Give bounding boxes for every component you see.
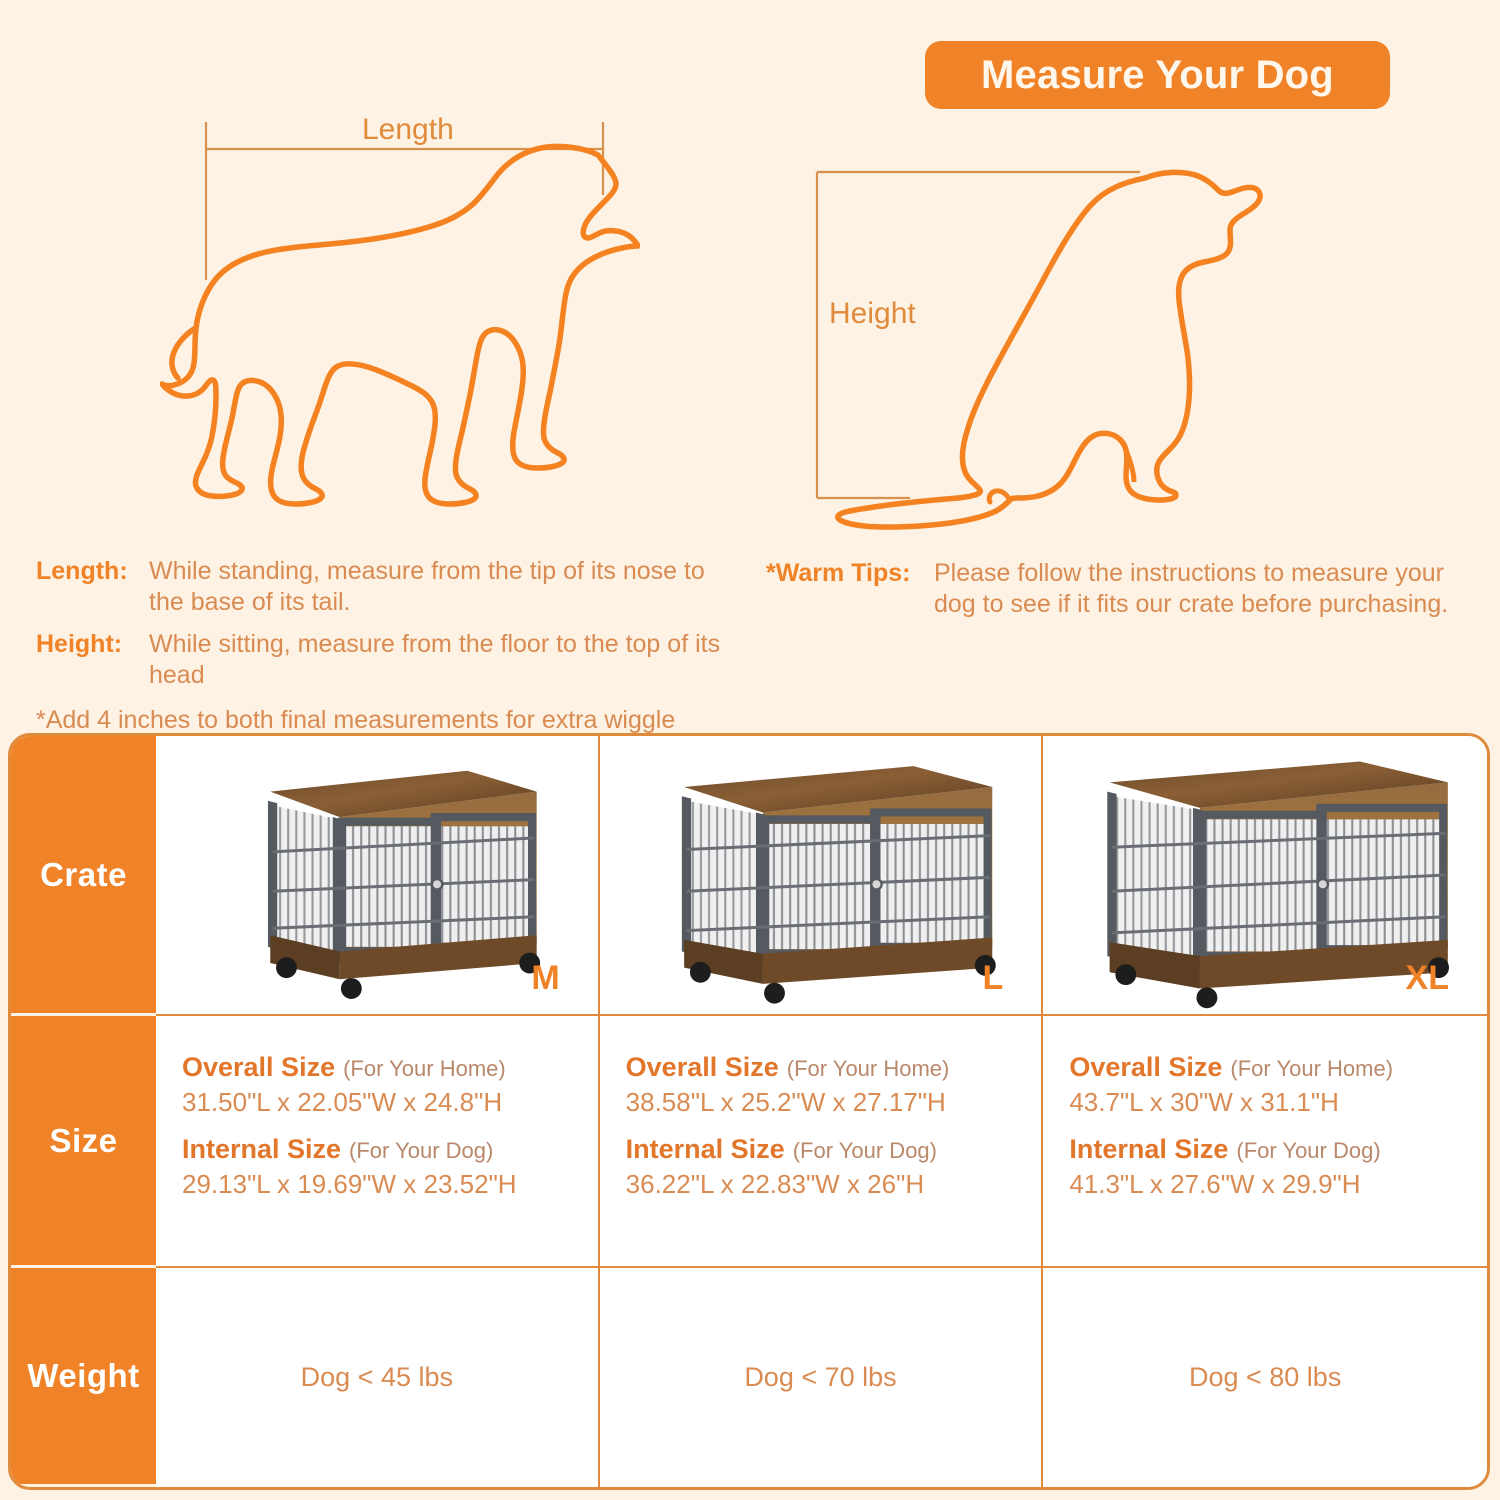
standing-dog-outline-icon xyxy=(160,100,640,530)
overall-size-title-l: Overall Size xyxy=(626,1052,779,1082)
internal-size-value-m: 29.13"L x 19.69"W x 23.52"H xyxy=(182,1169,598,1200)
row-label-crate-text: Crate xyxy=(40,856,127,894)
warm-tips-description: Please follow the instructions to measur… xyxy=(934,558,1481,621)
size-comparison-table: Crate xyxy=(8,733,1490,1490)
weight-cell-m: Dog < 45 lbs xyxy=(156,1268,600,1487)
row-label-size-text: Size xyxy=(49,1122,117,1160)
length-term: Length: xyxy=(36,556,149,587)
row-label-crate: Crate xyxy=(11,736,156,1016)
weight-value-xl: Dog < 80 lbs xyxy=(1189,1362,1341,1393)
warm-tips-row: *Warm Tips: Please follow the instructio… xyxy=(766,558,1481,621)
row-label-weight: Weight xyxy=(11,1268,156,1487)
overall-size-value-m: 31.50"L x 22.05"W x 24.8"H xyxy=(182,1087,598,1118)
overall-size-sub-m: (For Your Home) xyxy=(343,1056,506,1081)
sitting-dog-outline-icon xyxy=(790,150,1280,540)
overall-size-sub-l: (For Your Home) xyxy=(787,1056,950,1081)
overall-size-value-xl: 43.7"L x 30"W x 31.1"H xyxy=(1069,1087,1487,1118)
height-dimension-label: Height xyxy=(829,297,916,331)
height-instruction-row: Height: While sitting, measure from the … xyxy=(36,629,736,692)
length-description: While standing, measure from the tip of … xyxy=(149,556,736,619)
size-tag-m: M xyxy=(531,959,559,998)
size-cell-xl: Overall Size(For Your Home) 43.7"L x 30"… xyxy=(1043,1016,1487,1268)
internal-size-sub-xl: (For Your Dog) xyxy=(1236,1138,1380,1163)
crate-image-cell-l: L xyxy=(600,736,1044,1016)
weight-value-m: Dog < 45 lbs xyxy=(301,1362,453,1393)
row-label-size: Size xyxy=(11,1016,156,1268)
internal-size-title-xl: Internal Size xyxy=(1069,1134,1228,1164)
size-cell-l: Overall Size(For Your Home) 38.58"L x 25… xyxy=(600,1016,1044,1268)
internal-size-value-l: 36.22"L x 22.83"W x 26"H xyxy=(626,1169,1042,1200)
size-cell-m: Overall Size(For Your Home) 31.50"L x 22… xyxy=(156,1016,600,1268)
size-tag-xl: XL xyxy=(1406,959,1449,998)
crate-image-cell-m: M xyxy=(156,736,600,1016)
internal-size-title-l: Internal Size xyxy=(626,1134,785,1164)
internal-size-sub-l: (For Your Dog) xyxy=(793,1138,937,1163)
illustration-area: Length Height xyxy=(0,0,1500,545)
row-label-weight-text: Weight xyxy=(27,1357,139,1395)
length-instruction-row: Length: While standing, measure from the… xyxy=(36,556,736,619)
warm-tips-term: *Warm Tips: xyxy=(766,558,934,589)
weight-cell-l: Dog < 70 lbs xyxy=(600,1268,1044,1487)
internal-size-sub-m: (For Your Dog) xyxy=(349,1138,493,1163)
internal-size-value-xl: 41.3"L x 27.6"W x 29.9"H xyxy=(1069,1169,1487,1200)
length-dimension-label: Length xyxy=(362,113,454,147)
overall-size-sub-xl: (For Your Home) xyxy=(1230,1056,1393,1081)
weight-value-l: Dog < 70 lbs xyxy=(744,1362,896,1393)
overall-size-value-l: 38.58"L x 25.2"W x 27.17"H xyxy=(626,1087,1042,1118)
height-term: Height: xyxy=(36,629,149,660)
dog-crate-photo-l xyxy=(600,736,1042,1014)
warm-tips-block: *Warm Tips: Please follow the instructio… xyxy=(766,558,1481,631)
overall-size-title-xl: Overall Size xyxy=(1069,1052,1222,1082)
crate-image-cell-xl: XL xyxy=(1043,736,1487,1016)
internal-size-title-m: Internal Size xyxy=(182,1134,341,1164)
size-tag-l: L xyxy=(983,959,1004,998)
overall-size-title-m: Overall Size xyxy=(182,1052,335,1082)
weight-cell-xl: Dog < 80 lbs xyxy=(1043,1268,1487,1487)
height-description: While sitting, measure from the floor to… xyxy=(149,629,736,692)
